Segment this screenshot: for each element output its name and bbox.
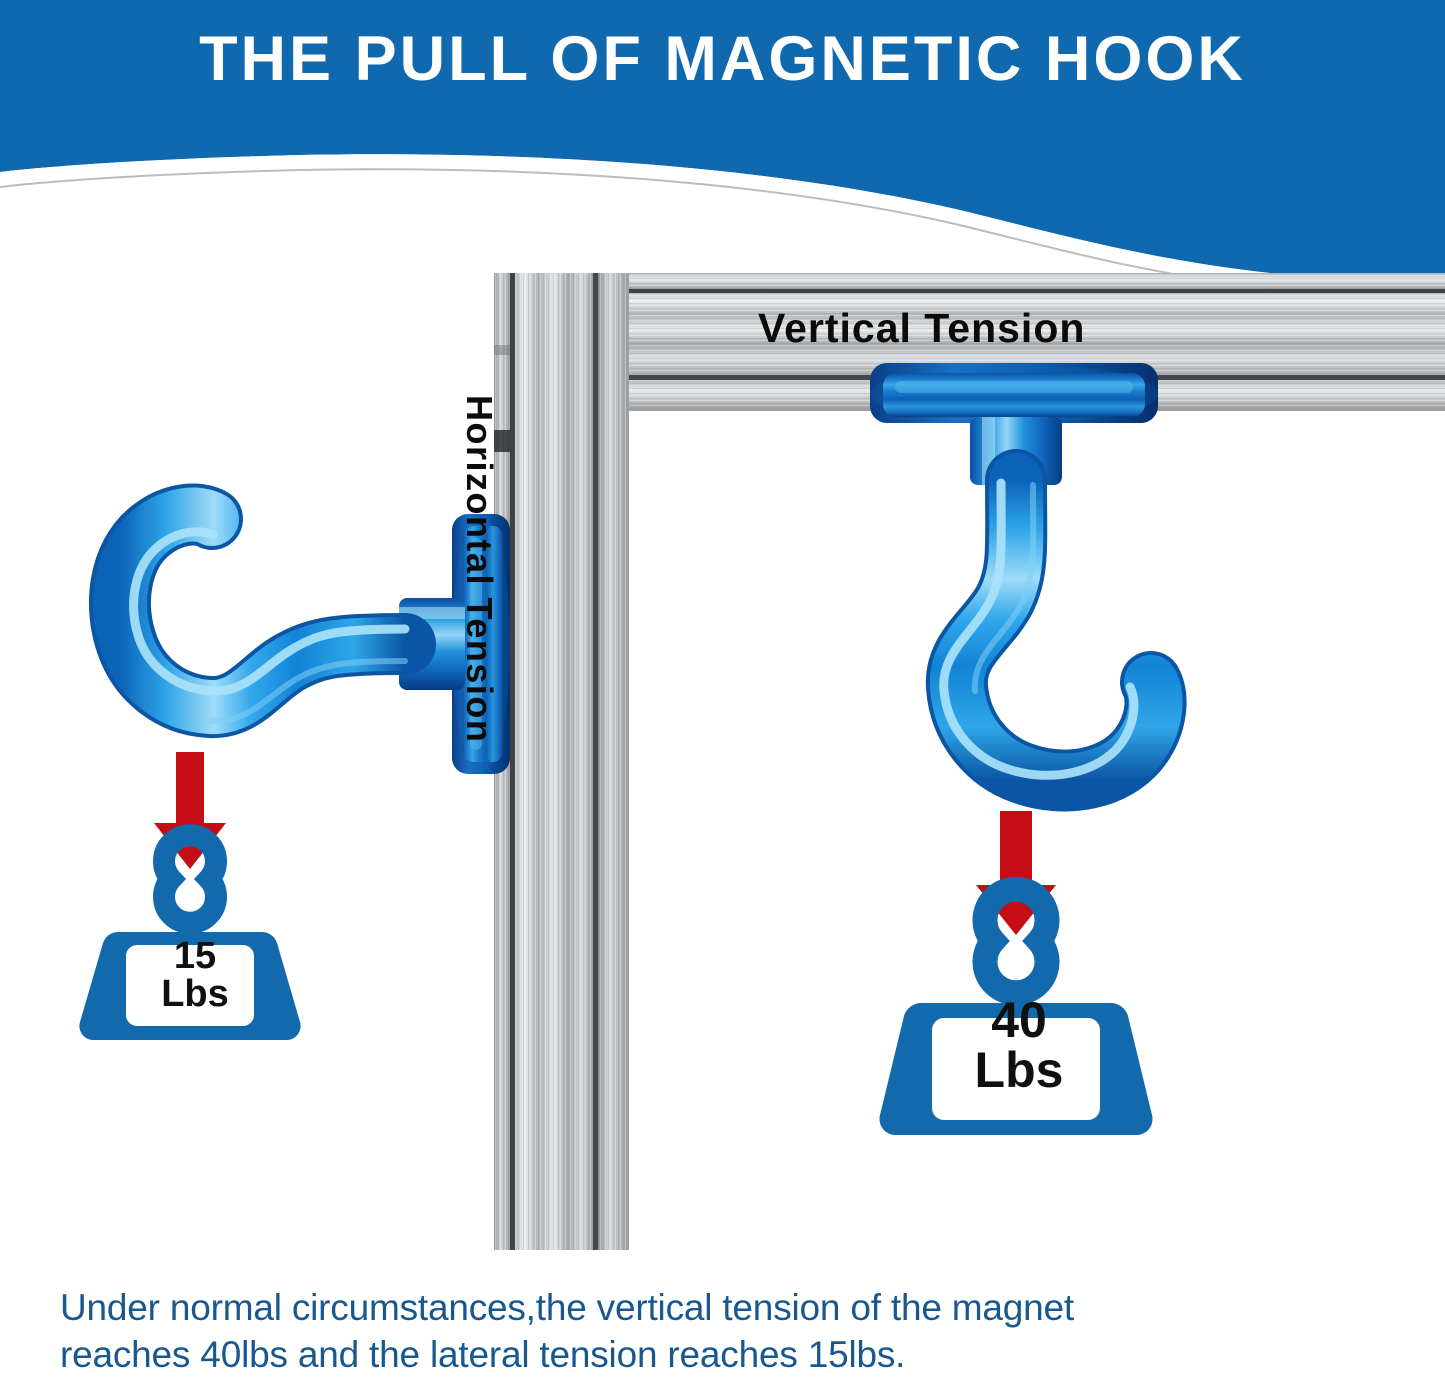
weight-label-right: 40 Lbs xyxy=(946,995,1092,1095)
caption-line-1: Under normal circumstances,the vertical … xyxy=(60,1285,1390,1332)
horizontal-hook-tube xyxy=(120,515,405,722)
hook-diagram xyxy=(0,255,1445,1265)
weight-unit-right: Lbs xyxy=(946,1045,1092,1095)
weight-unit-left: Lbs xyxy=(136,975,254,1013)
horizontal-tension-label: Horizontal Tension xyxy=(458,395,500,795)
weight-value-left: 15 xyxy=(136,937,254,975)
caption-line-2: reaches 40lbs and the lateral tension re… xyxy=(60,1332,1390,1378)
page-title: THE PULL OF MAGNETIC HOOK xyxy=(0,26,1445,92)
infographic-root: THE PULL OF MAGNETIC HOOK xyxy=(0,0,1445,1375)
weight-value-right: 40 xyxy=(946,995,1092,1045)
caption-block: Under normal circumstances,the vertical … xyxy=(60,1285,1390,1378)
header-banner: THE PULL OF MAGNETIC HOOK xyxy=(0,0,1445,282)
illustration-area: Vertical Tension Horizontal Tension 15 L… xyxy=(0,255,1445,1265)
vertical-hook-tube xyxy=(944,480,1156,781)
weight-label-left: 15 Lbs xyxy=(136,937,254,1013)
vertical-magnet xyxy=(870,363,1158,424)
vertical-tension-label: Vertical Tension xyxy=(758,305,1085,352)
vertical-beam xyxy=(494,273,629,1250)
